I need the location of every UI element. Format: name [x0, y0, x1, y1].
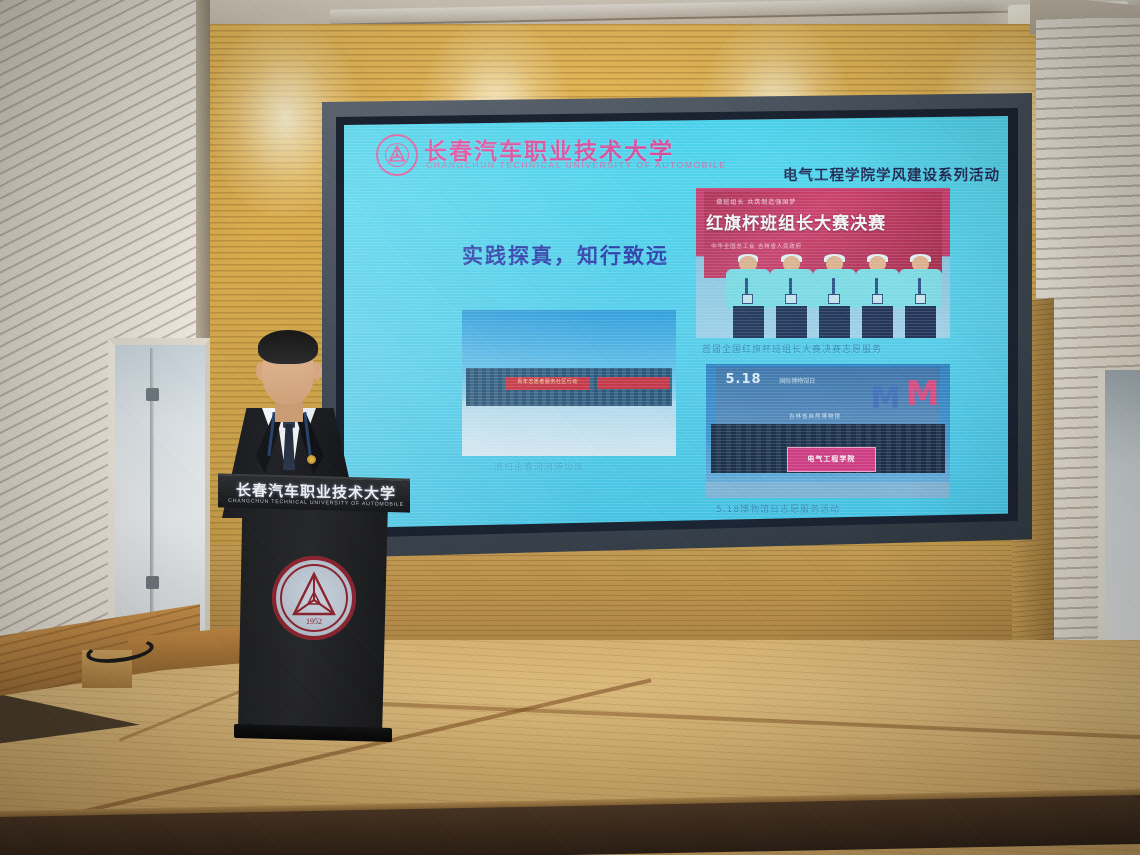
- photo-banner-main-text: 红旗杯班组长大赛决赛: [706, 209, 886, 234]
- photo-volunteer: [770, 254, 813, 338]
- photo-volunteer: [899, 254, 942, 338]
- photo-volunteer-lanyard: [832, 278, 835, 296]
- photo-volunteer-pants: [733, 306, 764, 338]
- photo-volunteer-badge: [915, 294, 926, 304]
- photo-volunteer-lanyard: [745, 278, 748, 296]
- photo-volunteer-lanyard: [875, 278, 878, 296]
- door-handle-icon[interactable]: [146, 388, 159, 401]
- photo-volunteer-badge: [872, 294, 883, 304]
- photo-sky: [462, 310, 676, 374]
- slide-photo-caption: 5.18博物馆日志愿服务活动: [716, 502, 840, 515]
- slide-title: 实践探真，知行致远: [462, 240, 669, 270]
- presentation-slide[interactable]: 长春汽车职业技术大学 CHANGCHUN TECHNICAL UNIVERSIT…: [344, 116, 1008, 528]
- photo-backdrop-logo-blue: M: [870, 381, 896, 416]
- photo-volunteer-badge: [742, 294, 753, 304]
- right-doorway[interactable]: [1098, 370, 1140, 645]
- photo-scene: 长春汽车职业技术大学 CHANGCHUN TECHNICAL UNIVERSIT…: [0, 0, 1140, 855]
- photo-volunteer-pants: [905, 306, 936, 338]
- photo-banner-sub-text: 中华全国总工会 吉林省人民政府: [711, 242, 802, 250]
- slide-department-banner: 电气工程学院学风建设系列活动: [783, 164, 1000, 185]
- photo-volunteer: [726, 254, 769, 338]
- photo-volunteer-lanyard: [918, 278, 921, 296]
- photo-ground: [462, 401, 676, 456]
- svg-text:1952: 1952: [306, 617, 322, 626]
- photo-red-banner-secondary: [597, 377, 670, 389]
- photo-volunteer-lanyard: [789, 278, 792, 296]
- slide-university-name-en: CHANGCHUN TECHNICAL UNIVERSITY OF AUTOMO…: [426, 160, 727, 170]
- speaker-hair: [258, 330, 318, 364]
- photo-pink-banner-text: 电气工程学院: [807, 454, 855, 464]
- photo-banner-text: 青年志愿者服务社区行动: [507, 378, 588, 390]
- photo-banner-top-text: 做班组长 共筑制造强国梦: [716, 197, 796, 206]
- photo-volunteer-badge: [828, 294, 839, 304]
- speaker-lapel-pin-icon: [307, 455, 316, 464]
- slide-photo-caption: 首届全国红旗杯班组长大赛决赛志愿服务: [702, 342, 882, 355]
- slide-photo-museum-day: 5.18 国际博物馆日 M M 吉林省自然博物馆 电气工程学院: [706, 364, 950, 498]
- photo-volunteer: [856, 254, 899, 338]
- photo-plaza-ground: [706, 482, 950, 498]
- door-latch-icon[interactable]: [146, 576, 159, 589]
- photo-backdrop-logo-pink: M: [906, 377, 936, 411]
- photo-volunteer-pants: [776, 306, 807, 338]
- photo-pink-banner: 电气工程学院: [787, 447, 877, 472]
- photo-backdrop-date: 5.18: [726, 372, 762, 387]
- left-doorway[interactable]: [108, 338, 210, 637]
- photo-backdrop-venue: 吉林省自然博物馆: [789, 412, 841, 420]
- photo-volunteer-badge: [785, 294, 796, 304]
- photo-volunteer-pants: [819, 306, 850, 338]
- slide-photo-caption: 清扫永春河河道垃圾: [494, 460, 584, 473]
- slide-photo-hongqi-cup: 做班组长 共筑制造强国梦 红旗杯班组长大赛决赛 中华全国总工会 吉林省人民政府: [696, 188, 950, 338]
- slide-photo-river-cleanup: 青年志愿者服务社区行动: [462, 310, 676, 456]
- circular-university-seal-icon: 1952: [272, 556, 356, 640]
- photo-volunteer: [813, 254, 856, 338]
- photo-backdrop-subtitle: 国际博物馆日: [779, 376, 815, 385]
- photo-volunteer-pants: [862, 306, 893, 338]
- university-triangle-emblem-icon: [376, 134, 418, 176]
